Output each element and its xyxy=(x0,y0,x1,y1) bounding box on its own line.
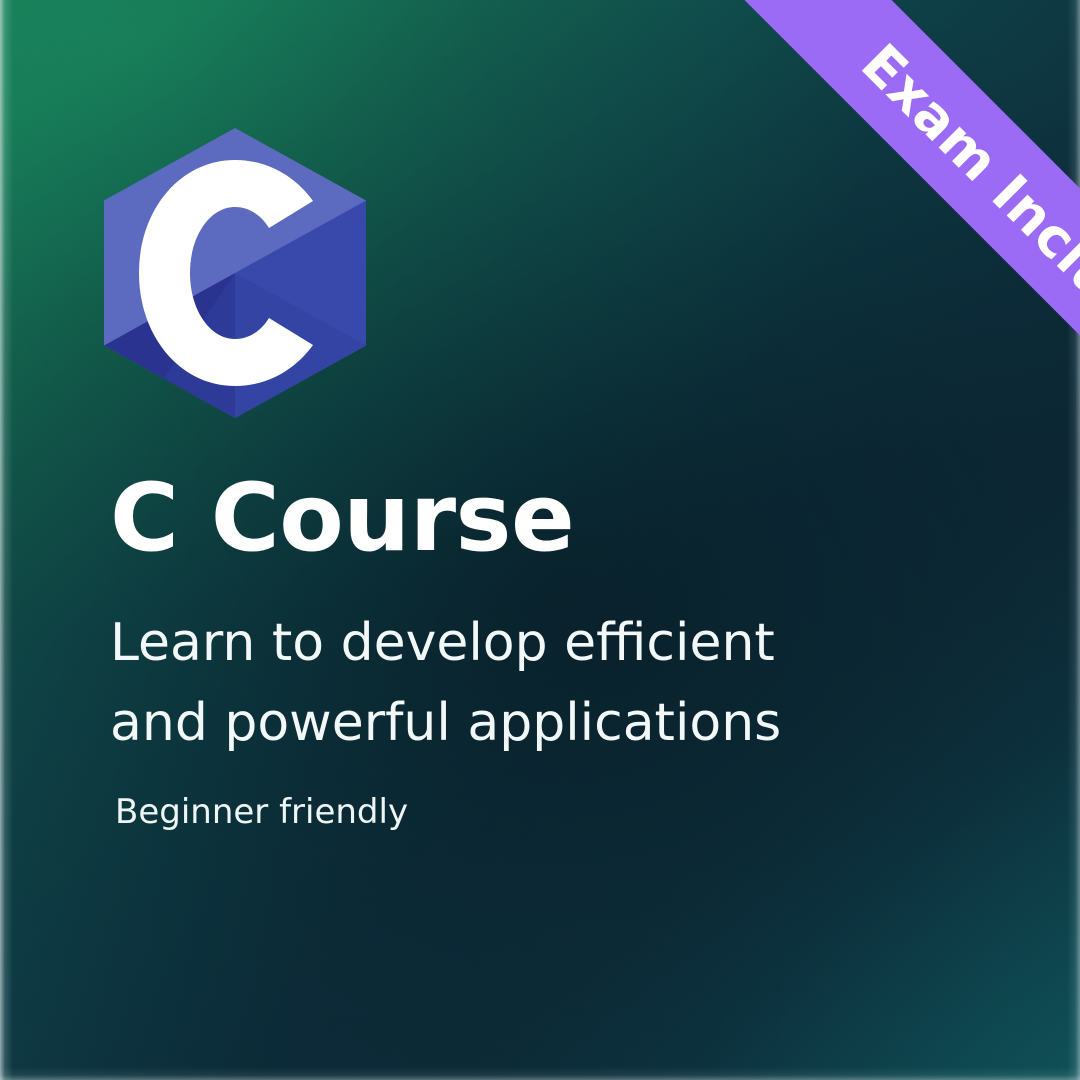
c-language-logo-icon xyxy=(104,128,366,418)
course-title: C Course xyxy=(110,470,970,569)
course-subtitle: Learn to develop efficient and powerful … xyxy=(110,603,880,764)
course-card[interactable]: Exam Included C Course Learn to develop … xyxy=(0,0,1080,1080)
course-level-badge: Beginner friendly xyxy=(110,790,970,834)
course-text-block: C Course Learn to develop efficient and … xyxy=(110,470,970,834)
